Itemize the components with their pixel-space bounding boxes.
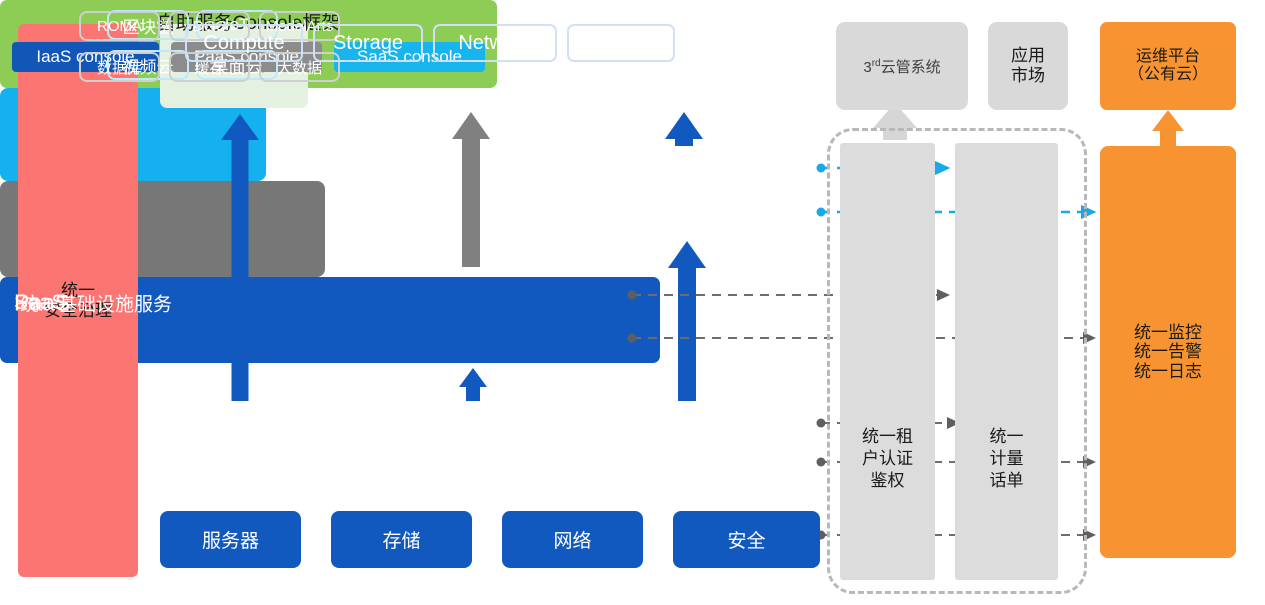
paas-chip-3-label: 数据库 [97,57,142,78]
ops-panel-label: 统一监控 统一告警 统一日志 [1134,323,1202,382]
iaas-chip-cce[interactable]: CCE [567,24,675,62]
architecture-diagram: 统一租 户认证 鉴权 统一 计量 话单 统一 安全治理 API网关 自助服务Co… [0,0,1265,605]
infra-box-0-label: 服务器 [202,526,259,553]
infra-box-security[interactable]: 安全 [673,511,820,568]
arrow-iaas-to-paas [459,368,487,401]
wire-dot [817,419,826,428]
app-market-box: 应用 市场 [988,22,1068,110]
iaas-chip-storage[interactable]: Storage [313,24,423,62]
iaas-chip-1-label: Storage [333,32,403,55]
infra-box-3-label: 安全 [727,526,765,553]
arrow-iaas-to-saas [668,241,706,401]
wire-dot [817,208,826,217]
third-cloud-number: 3 [863,59,871,76]
paas-chip-0-label: ROMA [97,18,142,35]
app-market-label: 应用 市场 [1011,46,1045,85]
column-unified-metering: 统一 计量 话单 [955,143,1058,580]
third-party-cloud-management-box: 3rd云管系统 [836,22,968,110]
infra-box-2-label: 网络 [553,526,591,553]
infra-box-storage[interactable]: 存储 [331,511,472,568]
paas-chip-roma[interactable]: ROMA [79,11,160,41]
infra-box-1-label: 存储 [382,526,420,553]
third-cloud-main: 云管系统 [881,59,941,76]
iaas-chip-3-label: CCE [600,32,642,55]
ops-platform-panel: 统一监控 统一告警 统一日志 [1100,146,1236,558]
iaas-chip-network[interactable]: Network [433,24,557,62]
third-cloud-ordinal: rd [872,58,881,69]
iaas-chip-compute[interactable]: Compute [185,24,303,62]
third-cloud-label: 3rd云管系统 [863,56,940,77]
column-unified-tenant-auth: 统一租 户认证 鉴权 [840,143,935,580]
infra-box-server[interactable]: 服务器 [160,511,301,568]
iaas-chip-2-label: Network [458,32,531,55]
arrow-paas-to-console [452,112,490,267]
wire-dot [817,458,826,467]
arrow-middleware-to-ops-platform [1152,110,1184,146]
infra-box-network[interactable]: 网络 [502,511,643,568]
iaas-layer-label: 统一基础设施服务 [20,289,172,316]
arrow-saas-to-console [665,112,703,146]
ops-platform-public-cloud-box: 运维平台 （公有云） [1100,22,1236,110]
column-auth-label: 统一租 户认证 鉴权 [840,426,935,491]
column-metering-label: 统一 计量 话单 [955,426,1058,491]
ops-public-label: 运维平台 （公有云） [1128,48,1208,85]
iaas-chip-0-label: Compute [203,32,284,55]
paas-chip-database[interactable]: 数据库 [79,52,160,82]
wire-dot [817,164,826,173]
